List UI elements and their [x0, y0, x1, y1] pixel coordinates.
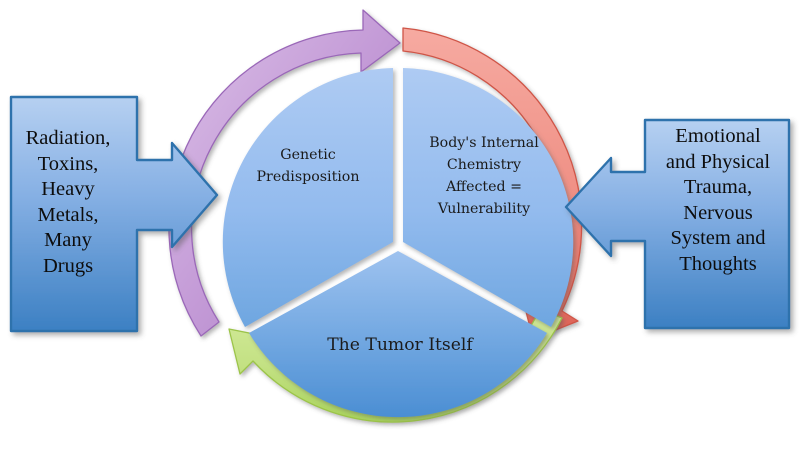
psychological-factors-label: Emotional and Physical Trauma, Nervous S…: [648, 124, 788, 277]
diagram-root: Radiation, Toxins, Heavy Metals, Many Dr…: [0, 0, 800, 472]
pie-slice-chemistry-label: Body's Internal Chemistry Affected = Vul…: [408, 132, 560, 220]
pie-slice-tumor-label: The Tumor Itself: [300, 334, 500, 356]
pie-slice-genetic-label: Genetic Predisposition: [232, 144, 384, 188]
external-factors-label: Radiation, Toxins, Heavy Metals, Many Dr…: [12, 126, 124, 279]
